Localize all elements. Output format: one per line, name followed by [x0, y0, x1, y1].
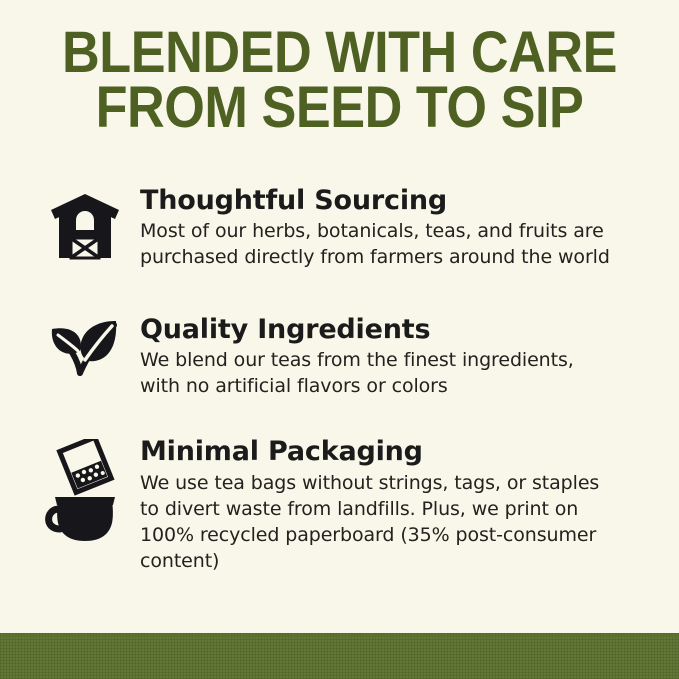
feature-text-block: Quality Ingredients We blend our teas fr…: [140, 315, 649, 400]
feature-text-block: Minimal Packaging We use tea bags withou…: [140, 437, 649, 574]
teabag-mug-icon: [30, 437, 140, 545]
feature-body: We blend our teas from the finest ingred…: [140, 347, 610, 399]
band-rough-edge: [0, 633, 679, 637]
headline: BLENDED WITH CARE FROM SEED TO SIP: [0, 26, 679, 135]
feature-title: Thoughtful Sourcing: [140, 186, 649, 216]
barn-icon: [30, 186, 140, 264]
feature-text-block: Thoughtful Sourcing Most of our herbs, b…: [140, 186, 649, 271]
feature-item-minimal-packaging: Minimal Packaging We use tea bags withou…: [0, 437, 679, 574]
leaves-icon: [30, 315, 140, 379]
feature-body: Most of our herbs, botanicals, teas, and…: [140, 218, 610, 270]
feature-title: Quality Ingredients: [140, 315, 649, 345]
headline-line-2: FROM SEED TO SIP: [34, 81, 645, 136]
feature-body: We use tea bags without strings, tags, o…: [140, 470, 610, 575]
band-texture: [0, 633, 679, 679]
bottom-green-band: [0, 633, 679, 679]
feature-item-quality-ingredients: Quality Ingredients We blend our teas fr…: [0, 315, 679, 400]
headline-line-1: BLENDED WITH CARE: [34, 26, 645, 81]
feature-list: Thoughtful Sourcing Most of our herbs, b…: [0, 186, 679, 574]
infographic-panel: BLENDED WITH CARE FROM SEED TO SIP: [0, 0, 679, 679]
feature-item-thoughtful-sourcing: Thoughtful Sourcing Most of our herbs, b…: [0, 186, 679, 271]
feature-title: Minimal Packaging: [140, 437, 649, 467]
